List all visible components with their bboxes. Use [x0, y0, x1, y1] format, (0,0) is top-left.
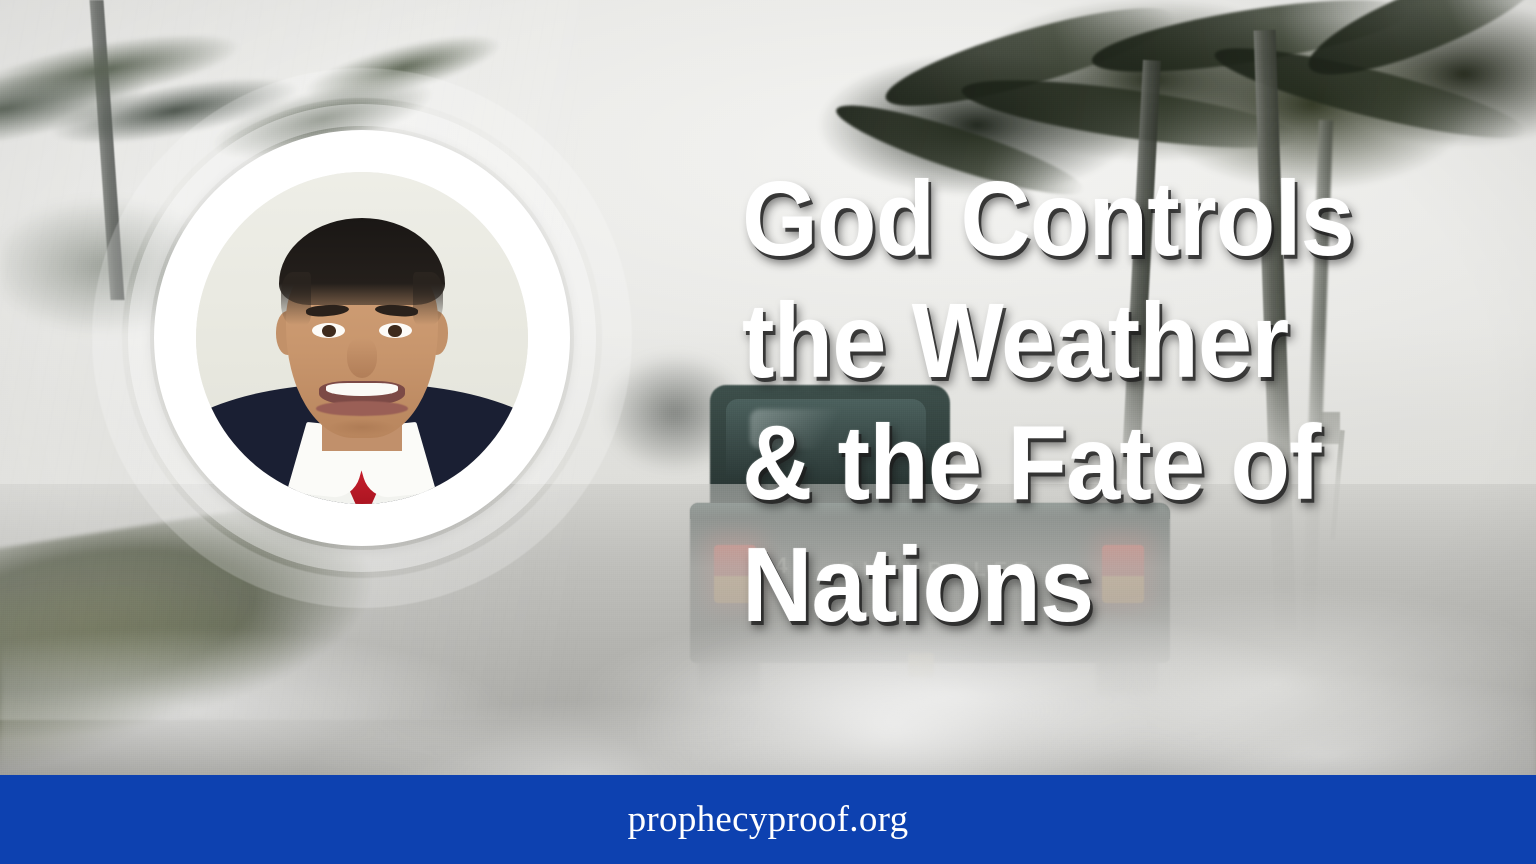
- lower-lip: [316, 401, 409, 416]
- poster-canvas: 14 CHEVROLET: [0, 0, 1536, 864]
- title-line-1: God Controls: [742, 158, 1423, 280]
- chin-shadow: [316, 418, 409, 441]
- page-title: God Controls the Weather & the Fate of N…: [742, 158, 1423, 646]
- pupil-right: [388, 325, 402, 338]
- hair-fade-left: [281, 272, 311, 325]
- title-line-4: Nations: [742, 524, 1423, 646]
- teeth: [326, 383, 399, 396]
- speaker-portrait-medallion: [92, 68, 632, 608]
- hair-fade-right: [413, 272, 443, 325]
- website-url[interactable]: prophecyproof.org: [628, 798, 909, 841]
- nose: [347, 338, 377, 378]
- footer-bar: prophecyproof.org: [0, 775, 1536, 864]
- title-line-2: the Weather: [742, 280, 1423, 402]
- avatar: [196, 172, 528, 504]
- title-line-3: & the Fate of: [742, 402, 1423, 524]
